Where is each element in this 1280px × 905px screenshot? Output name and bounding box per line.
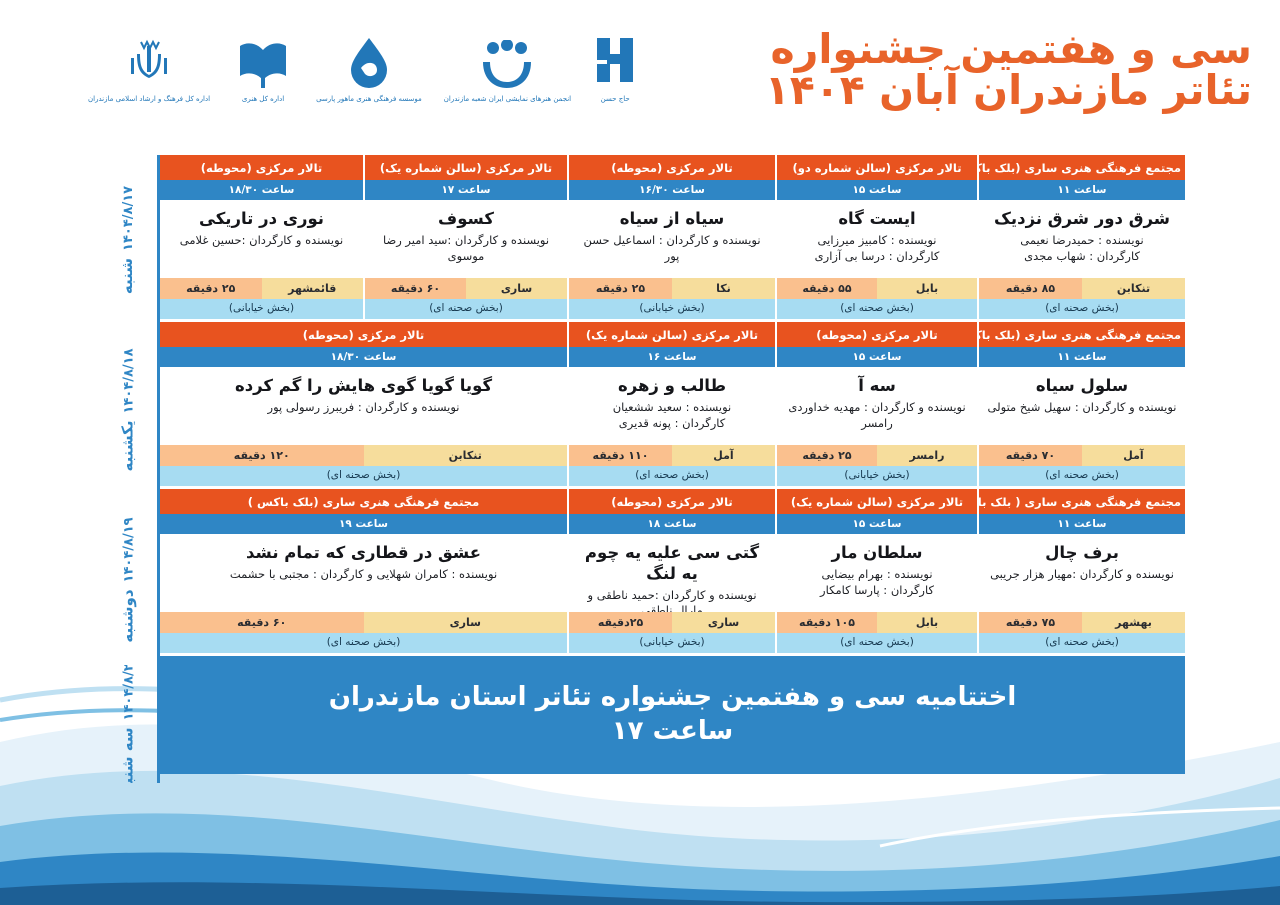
performance-details: ایست گاهنویسنده : کامبیز میرزاییکارگردان… bbox=[777, 200, 977, 278]
honari-organization-logo: اداره کل هنری bbox=[232, 34, 294, 104]
play-credit-line: نویسنده : کامران شهلایی و کارگردان : مجت… bbox=[230, 567, 497, 583]
theater-mask-icon bbox=[475, 40, 539, 92]
closing-title: اختتامیه سی و هفتمین جشنواره تئاتر استان… bbox=[329, 681, 1016, 715]
city-label: ساری bbox=[466, 278, 567, 299]
performance-meta: تنکابن۸۵ دقیقه bbox=[979, 278, 1185, 299]
show-time: ساعت ۱۶/۳۰ bbox=[569, 180, 775, 201]
section-label: (بخش صحنه ای) bbox=[979, 633, 1185, 653]
play-credit-line: نویسنده و کارگردان :حمید ناطقی و bbox=[587, 588, 756, 604]
performance-details: شرق دور شرق نزدیکنویسنده : حمیدرضا نعیمی… bbox=[979, 200, 1185, 278]
emblem-of-iran-icon bbox=[121, 36, 177, 92]
show-time: ساعت ۱۱ bbox=[979, 180, 1185, 201]
section-label: (بخش صحنه ای) bbox=[777, 299, 977, 319]
city-label: بهشهر bbox=[1082, 612, 1185, 633]
section-label: (بخش صحنه ای) bbox=[979, 299, 1185, 319]
performance-slot[interactable]: تالار مرکزی (محوطه)ساعت ۱۵سه آنویسنده و … bbox=[775, 322, 977, 486]
festival-title-line1: سی و هفتمین جشنواره bbox=[765, 28, 1252, 71]
performance-details: برف چالنویسنده و کارگردان :مهیار هزار جر… bbox=[979, 534, 1185, 612]
h-monogram-icon bbox=[593, 34, 637, 92]
schedule-date-cell: یکشنبه۱۴۰۴/۸/۱۸ bbox=[98, 325, 160, 495]
section-label: (بخش صحنه ای) bbox=[160, 633, 567, 653]
duration-label: ۲۵دقیقه bbox=[569, 612, 672, 633]
play-credit-line: کارگردان : درسا بی آزاری bbox=[815, 249, 940, 265]
schedule-day-row: مجتمع فرهنگی هنری ساری (بلک باکس)ساعت ۱۱… bbox=[160, 322, 1185, 489]
section-label: (بخش صحنه ای) bbox=[979, 466, 1185, 486]
performance-details: طالب و زهرهنویسنده : سعید ششعیانکارگردان… bbox=[569, 367, 775, 445]
duration-label: ۶۰ دقیقه bbox=[160, 612, 364, 633]
city-label: ساری bbox=[672, 612, 775, 633]
play-title: کسوف bbox=[438, 209, 494, 230]
city-label: بابل bbox=[877, 612, 977, 633]
performance-slot[interactable]: مجتمع فرهنگی هنری ساری (بلک باکس )ساعت ۱… bbox=[160, 489, 567, 653]
performance-slot[interactable]: تالار مرکزی (محوطه)ساعت ۱۸/۳۰گویا گویا گ… bbox=[160, 322, 567, 486]
schedule-grid-body: مجتمع فرهنگی هنری ساری (بلک باکس)ساعت ۱۱… bbox=[160, 155, 1185, 783]
play-title: عشق در قطاری که تمام نشد bbox=[246, 543, 481, 564]
performance-slot[interactable]: مجتمع فرهنگی هنری ساری (بلک باکس)ساعت ۱۱… bbox=[977, 322, 1185, 486]
show-time: ساعت ۱۸/۳۰ bbox=[160, 347, 567, 368]
iran-theater-association-logo: انجمن هنرهای نمایشی ایران شعبه مازندران bbox=[444, 40, 571, 104]
play-title: سلطان مار bbox=[832, 543, 923, 564]
performance-slot[interactable]: تالار مرکزی (محوطه)ساعت ۱۸گتی سی علیه یه… bbox=[567, 489, 775, 653]
venue-label: تالار مرکزی (محوطه) bbox=[569, 155, 775, 180]
performance-meta: آمل۷۰ دقیقه bbox=[979, 445, 1185, 466]
date-weekday: دوشنبه bbox=[118, 589, 136, 642]
performance-details: سیاه از سیاهنویسنده و کارگردان : اسماعیل… bbox=[569, 200, 775, 278]
play-title: سه آ bbox=[858, 376, 896, 397]
venue-label: تالار مرکزی (سالن شماره یک) bbox=[569, 322, 775, 347]
schedule-table: مجتمع فرهنگی هنری ساری (بلک باکس)ساعت ۱۱… bbox=[98, 155, 1185, 783]
performance-meta: ساری۶۰ دقیقه bbox=[160, 612, 567, 633]
play-credit-line: نویسنده : سعید ششعیان bbox=[613, 400, 732, 416]
date-number: ۱۴۰۴/۸/۱۸ bbox=[121, 348, 136, 413]
performance-details: گتی سی علیه یه چوم یه لنگنویسنده و کارگر… bbox=[569, 534, 775, 612]
performance-meta: بابل۱۰۵ دقیقه bbox=[777, 612, 977, 633]
date-weekday: یکشنبه bbox=[118, 421, 136, 472]
duration-label: ۲۵ دقیقه bbox=[569, 278, 672, 299]
performance-meta: ساری۶۰ دقیقه bbox=[365, 278, 567, 299]
play-credit-line: نویسنده : حمیدرضا نعیمی bbox=[1020, 233, 1144, 249]
schedule-date-column: شنبه۱۴۰۴/۸/۱۷یکشنبه۱۴۰۴/۸/۱۸دوشنبه۱۴۰۴/۸… bbox=[98, 155, 160, 783]
section-label: (بخش خیابانی) bbox=[160, 299, 363, 319]
section-label: (بخش صحنه ای) bbox=[777, 633, 977, 653]
show-time: ساعت ۱۵ bbox=[777, 514, 977, 535]
date-weekday: شنبه bbox=[118, 258, 136, 294]
ministry-of-culture-logo: اداره کل فرهنگ و ارشاد اسلامی مازندران bbox=[88, 36, 210, 104]
city-label: تنکابن bbox=[1082, 278, 1185, 299]
show-time: ساعت ۱۵ bbox=[777, 347, 977, 368]
play-title: ایست گاه bbox=[838, 209, 915, 230]
performance-slot[interactable]: مجتمع فرهنگی هنری ساری ( بلک باکس )ساعت … bbox=[977, 489, 1185, 653]
performance-meta: ساری۲۵دقیقه bbox=[569, 612, 775, 633]
duration-label: ۸۵ دقیقه bbox=[979, 278, 1082, 299]
performance-slot[interactable]: تالار مرکزی (سالن شماره یک)ساعت ۱۶طالب و… bbox=[567, 322, 775, 486]
section-label: (بخش صحنه ای) bbox=[160, 466, 567, 486]
duration-label: ۱۱۰ دقیقه bbox=[569, 445, 672, 466]
play-title: گویا گویا گوی هایش را گم کرده bbox=[235, 376, 492, 397]
section-label: (بخش خیابانی) bbox=[569, 633, 775, 653]
duration-label: ۲۵ دقیقه bbox=[160, 278, 262, 299]
performance-meta: بهشهر۷۵ دقیقه bbox=[979, 612, 1185, 633]
festival-title: سی و هفتمین جشنواره تئاتر مازندران آبان … bbox=[765, 28, 1252, 112]
date-number: ۱۴۰۴/۸/۱۷ bbox=[121, 186, 136, 251]
performance-details: سلول سیاهنویسنده و کارگردان : سهیل شیخ م… bbox=[979, 367, 1185, 445]
duration-label: ۶۰ دقیقه bbox=[365, 278, 466, 299]
play-title: برف چال bbox=[1045, 543, 1119, 564]
date-weekday: سه شنبه bbox=[119, 727, 137, 783]
city-label: تنکابن bbox=[364, 445, 568, 466]
performance-details: گویا گویا گوی هایش را گم کردهنویسنده و ک… bbox=[160, 367, 567, 445]
city-label: آمل bbox=[672, 445, 775, 466]
play-credit-line: نویسنده و کارگردان : مهدیه خداوردی bbox=[788, 400, 965, 416]
venue-label: تالار مرکزی (سالن شماره دو) bbox=[777, 155, 977, 180]
show-time: ساعت ۱۶ bbox=[569, 347, 775, 368]
venue-label: مجتمع فرهنگی هنری ساری (بلک باکس) bbox=[979, 322, 1185, 347]
play-credit-line: کارگردان : پارسا کامکار bbox=[820, 583, 934, 599]
poster-header: اداره کل فرهنگ و ارشاد اسلامی مازندران ا… bbox=[0, 0, 1280, 150]
venue-label: مجتمع فرهنگی هنری ساری ( بلک باکس ) bbox=[979, 489, 1185, 514]
play-credit-line: کارگردان : پونه قدیری bbox=[619, 416, 726, 432]
closing-ceremony-banner[interactable]: اختتامیه سی و هفتمین جشنواره تئاتر استان… bbox=[160, 656, 1185, 774]
duration-label: ۲۵ دقیقه bbox=[777, 445, 877, 466]
city-label: رامسر bbox=[877, 445, 977, 466]
play-credit-line: نویسنده و کارگردان :سید امیر رضا موسوی bbox=[373, 233, 559, 264]
play-title: سیاه از سیاه bbox=[620, 209, 724, 230]
show-time: ساعت ۱۱ bbox=[979, 347, 1185, 368]
play-credit-line: رامسر bbox=[861, 416, 893, 432]
performance-details: کسوفنویسنده و کارگردان :سید امیر رضا موس… bbox=[365, 200, 567, 278]
play-credit-line: نویسنده : بهرام بیضایی bbox=[821, 567, 932, 583]
performance-slot[interactable]: تالار مرکزی (محوطه)ساعت ۱۶/۳۰سیاه از سیا… bbox=[567, 155, 775, 319]
duration-label: ۷۰ دقیقه bbox=[979, 445, 1082, 466]
city-label: نکا bbox=[672, 278, 775, 299]
performance-meta: بابل۵۵ دقیقه bbox=[777, 278, 977, 299]
city-label: بابل bbox=[877, 278, 977, 299]
city-label: قائمشهر bbox=[262, 278, 364, 299]
performance-meta: آمل۱۱۰ دقیقه bbox=[569, 445, 775, 466]
schedule-date-cell-closing: سه شنبه۱۴۰۴/۸/۲۰ bbox=[98, 665, 160, 783]
section-label: (بخش صحنه ای) bbox=[365, 299, 567, 319]
performance-details: سه آنویسنده و کارگردان : مهدیه خداوردیرا… bbox=[777, 367, 977, 445]
play-credit-line: کارگردان : شهاب مجدی bbox=[1024, 249, 1140, 265]
play-title: سلول سیاه bbox=[1036, 376, 1128, 397]
performance-details: عشق در قطاری که تمام نشدنویسنده : کامران… bbox=[160, 534, 567, 612]
closing-time: ساعت ۱۷ bbox=[612, 715, 733, 749]
section-label: (بخش خیابانی) bbox=[569, 299, 775, 319]
performance-slot[interactable]: تالار مرکزی (محوطه)ساعت ۱۸/۳۰نوری در تار… bbox=[160, 155, 363, 319]
play-credit-line: نویسنده و کارگردان : فریبرز رسولی پور bbox=[268, 400, 460, 416]
venue-label: تالار مرکزی (سالن شماره یک) bbox=[365, 155, 567, 180]
venue-label: تالار مرکزی (محوطه) bbox=[160, 322, 567, 347]
logo-caption: اداره کل فرهنگ و ارشاد اسلامی مازندران bbox=[88, 95, 210, 104]
city-label: آمل bbox=[1082, 445, 1185, 466]
duration-label: ۷۵ دقیقه bbox=[979, 612, 1082, 633]
festival-title-line2: تئاتر مازندران آبان ۱۴۰۴ bbox=[765, 69, 1252, 112]
venue-label: مجتمع فرهنگی هنری ساری (بلک باکس) bbox=[979, 155, 1185, 180]
schedule-date-cell: شنبه۱۴۰۴/۸/۱۷ bbox=[98, 155, 160, 325]
mahoor-parsi-logo: موسسه فرهنگی هنری ماهور پارسی bbox=[316, 34, 422, 104]
date-number: ۱۴۰۴/۸/۲۰ bbox=[122, 665, 137, 720]
logo-caption: اداره کل هنری bbox=[242, 95, 284, 104]
sponsor-logo-strip: اداره کل فرهنگ و ارشاد اسلامی مازندران ا… bbox=[88, 34, 637, 104]
logo-caption: انجمن هنرهای نمایشی ایران شعبه مازندران bbox=[444, 95, 571, 104]
play-title: نوری در تاریکی bbox=[199, 209, 324, 230]
venue-label: تالار مرکزی (سالن شماره یک) bbox=[777, 489, 977, 514]
show-time: ساعت ۱۱ bbox=[979, 514, 1185, 535]
show-time: ساعت ۱۷ bbox=[365, 180, 567, 201]
schedule-date-cell: دوشنبه۱۴۰۴/۸/۱۹ bbox=[98, 495, 160, 665]
duration-label: ۱۰۵ دقیقه bbox=[777, 612, 877, 633]
show-time: ساعت ۱۹ bbox=[160, 514, 567, 535]
section-label: (بخش خیابانی) bbox=[777, 466, 977, 486]
performance-details: نوری در تاریکینویسنده و کارگردان :حسین غ… bbox=[160, 200, 363, 278]
play-credit-line: نویسنده و کارگردان :حسین غلامی bbox=[180, 233, 344, 249]
logo-caption: حاج حسن bbox=[601, 95, 630, 104]
performance-slot[interactable]: تالار مرکزی (سالن شماره یک)ساعت ۱۵سلطان … bbox=[775, 489, 977, 653]
schedule-day-row: مجتمع فرهنگی هنری ساری ( بلک باکس )ساعت … bbox=[160, 489, 1185, 656]
date-number: ۱۴۰۴/۸/۱۹ bbox=[121, 517, 136, 582]
play-credit-line: نویسنده و کارگردان :مهیار هزار جریبی bbox=[990, 567, 1174, 583]
performance-slot[interactable]: مجتمع فرهنگی هنری ساری (بلک باکس)ساعت ۱۱… bbox=[977, 155, 1185, 319]
city-label: ساری bbox=[364, 612, 568, 633]
water-drop-icon bbox=[347, 34, 391, 92]
duration-label: ۵۵ دقیقه bbox=[777, 278, 877, 299]
open-book-icon bbox=[232, 34, 294, 92]
duration-label: ۱۲۰ دقیقه bbox=[160, 445, 364, 466]
venue-label: تالار مرکزی (محوطه) bbox=[777, 322, 977, 347]
show-time: ساعت ۱۸/۳۰ bbox=[160, 180, 363, 201]
venue-label: تالار مرکزی (محوطه) bbox=[569, 489, 775, 514]
performance-meta: نکا۲۵ دقیقه bbox=[569, 278, 775, 299]
play-credit-line: نویسنده و کارگردان : اسماعیل حسن پور bbox=[577, 233, 767, 264]
show-time: ساعت ۱۵ bbox=[777, 180, 977, 201]
play-title: گتی سی علیه یه چوم یه لنگ bbox=[577, 543, 767, 584]
play-title: شرق دور شرق نزدیک bbox=[994, 209, 1170, 230]
play-credit-line: نویسنده : کامبیز میرزایی bbox=[818, 233, 937, 249]
haj-hassan-logo: حاج حسن bbox=[593, 34, 637, 104]
play-title: طالب و زهره bbox=[618, 376, 726, 397]
venue-label: مجتمع فرهنگی هنری ساری (بلک باکس ) bbox=[160, 489, 567, 514]
schedule-day-row: مجتمع فرهنگی هنری ساری (بلک باکس)ساعت ۱۱… bbox=[160, 155, 1185, 322]
section-label: (بخش صحنه ای) bbox=[569, 466, 775, 486]
performance-slot[interactable]: تالار مرکزی (سالن شماره دو)ساعت ۱۵ایست گ… bbox=[775, 155, 977, 319]
show-time: ساعت ۱۸ bbox=[569, 514, 775, 535]
venue-label: تالار مرکزی (محوطه) bbox=[160, 155, 363, 180]
performance-meta: رامسر۲۵ دقیقه bbox=[777, 445, 977, 466]
performance-slot[interactable]: تالار مرکزی (سالن شماره یک)ساعت ۱۷کسوفنو… bbox=[363, 155, 567, 319]
performance-meta: تنکابن۱۲۰ دقیقه bbox=[160, 445, 567, 466]
play-credit-line: نویسنده و کارگردان : سهیل شیخ متولی bbox=[988, 400, 1177, 416]
poster-root: اداره کل فرهنگ و ارشاد اسلامی مازندران ا… bbox=[0, 0, 1280, 905]
performance-meta: قائمشهر۲۵ دقیقه bbox=[160, 278, 363, 299]
logo-caption: موسسه فرهنگی هنری ماهور پارسی bbox=[316, 95, 422, 104]
performance-details: سلطان مارنویسنده : بهرام بیضاییکارگردان … bbox=[777, 534, 977, 612]
